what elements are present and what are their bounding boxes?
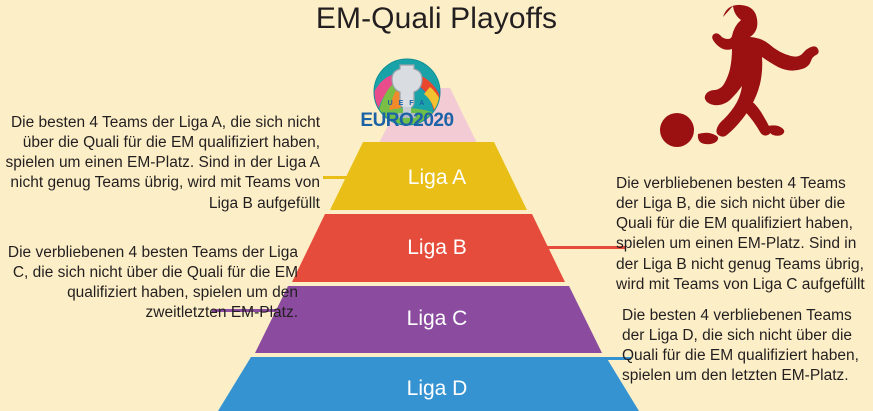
callout-liga-a: Die besten 4 Teams der Liga A, die sich … xyxy=(4,113,320,214)
callout-liga-b: Die verbliebenen besten 4 Teams der Liga… xyxy=(616,174,868,295)
pyramid-band-liga-c xyxy=(255,286,602,353)
connector-liga-a xyxy=(323,176,386,179)
pyramid-band-liga-d xyxy=(218,357,639,411)
connector-liga-b xyxy=(515,246,625,249)
soccer-ball-icon xyxy=(660,113,694,147)
football-player-silhouette xyxy=(660,2,865,154)
callout-liga-c: Die verbliebenen 4 besten Teams der Liga… xyxy=(2,243,298,324)
logo-euro-text: EURO2020 xyxy=(347,110,467,132)
infographic-canvas: EM-Quali Playoffs Liga A Liga B Liga C L… xyxy=(0,0,873,411)
logo-uefa-text: U E F A xyxy=(347,100,467,107)
callout-liga-d: Die besten 4 verbliebenen Teams der Liga… xyxy=(622,306,868,387)
